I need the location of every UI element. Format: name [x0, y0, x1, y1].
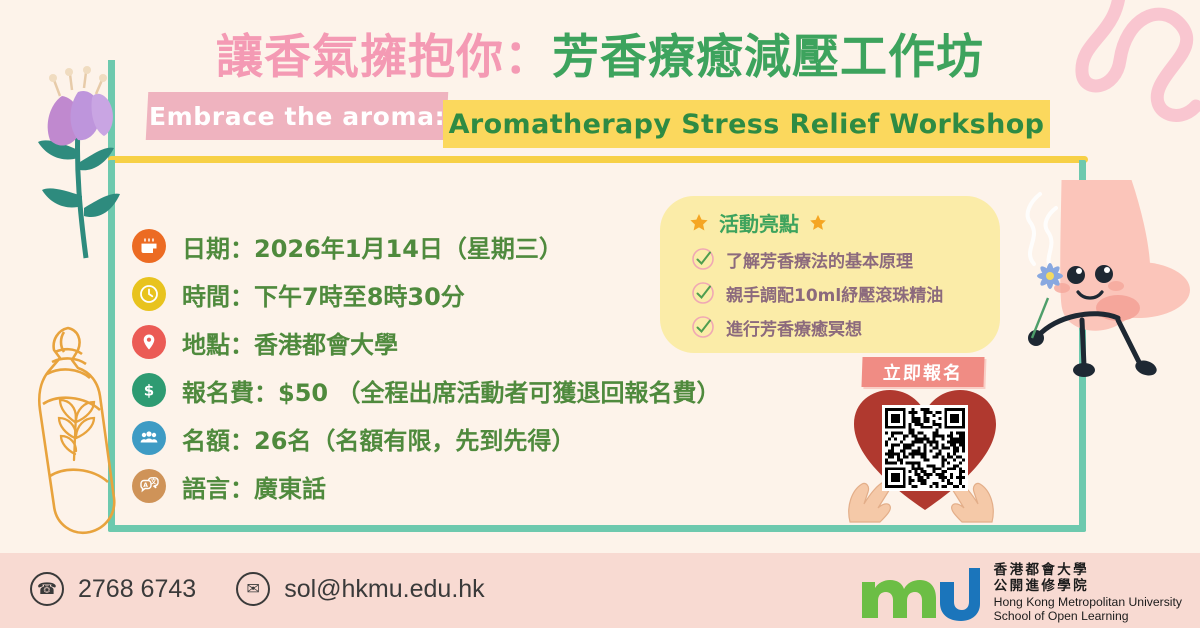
detail-row-quota: 名額：26名（名額有限，先到先得）: [132, 414, 712, 462]
poster-footer: ☎ 2768 6743 ✉ sol@hkmu.edu.hk 香港都會大學 公開進…: [0, 553, 1200, 628]
logo-english-line-1: Hong Kong Metropolitan University: [994, 595, 1182, 609]
highlight-text-2: 親手調配10ml紓壓滾珠精油: [726, 281, 943, 306]
event-details-list: 日期：2026年1月14日（星期三） 時間：下午7時至8時30分 地點：香港都會…: [132, 222, 712, 510]
register-button-label: 立即報名: [883, 359, 964, 385]
poster-title: 讓香氣擁抱你：芳香療癒減壓工作坊: [0, 18, 1200, 87]
dollar-icon: $: [132, 373, 166, 407]
contact-email[interactable]: ✉ sol@hkmu.edu.hk: [236, 572, 484, 606]
envelope-icon: ✉: [236, 572, 270, 606]
highlight-item-1: 了解芳香療法的基本原理: [688, 244, 1000, 274]
phone-icon: ☎: [30, 572, 64, 606]
poster-canvas: 讓香氣擁抱你：芳香療癒減壓工作坊 Embrace the aroma: Arom…: [0, 0, 1200, 628]
roller-bottle-illustration: [14, 310, 130, 542]
star-icon-right: [808, 213, 828, 233]
hkmu-logo-text: 香港都會大學 公開進修學院 Hong Kong Metropolitan Uni…: [994, 563, 1182, 624]
qr-code-image[interactable]: [882, 405, 968, 491]
people-icon: [132, 421, 166, 455]
contact-phone[interactable]: ☎ 2768 6743: [30, 572, 196, 606]
detail-text-language: 語言：廣東話: [182, 469, 326, 504]
clock-icon: [132, 277, 166, 311]
highlights-heading: 活動亮點: [719, 208, 799, 237]
hkmu-logo-block: 香港都會大學 公開進修學院 Hong Kong Metropolitan Uni…: [858, 563, 1182, 624]
logo-chinese-line-2: 公開進修學院: [994, 579, 1182, 595]
svg-text:$: $: [144, 382, 154, 400]
subtitle-banner-right: Aromatherapy Stress Relief Workshop: [443, 100, 1050, 148]
detail-row-time: 時間：下午7時至8時30分: [132, 270, 712, 318]
star-icon-left: [688, 212, 710, 234]
location-pin-icon: [132, 325, 166, 359]
svg-text:文: 文: [150, 478, 158, 486]
logo-english-line-2: School of Open Learning: [994, 609, 1182, 623]
detail-row-fee: $ 報名費：$50 （全程出席活動者可獲退回報名費）: [132, 366, 712, 414]
subtitle-english-right: Aromatherapy Stress Relief Workshop: [449, 109, 1045, 140]
logo-chinese-line-1: 香港都會大學: [994, 563, 1182, 579]
detail-text-quota: 名額：26名（名額有限，先到先得）: [182, 421, 575, 456]
detail-text-date: 日期：2026年1月14日（星期三）: [182, 229, 563, 264]
subtitle-banner-left: Embrace the aroma:: [146, 92, 449, 140]
highlight-item-3: 進行芳香療癒冥想: [688, 312, 1000, 342]
detail-row-location: 地點：香港都會大學: [132, 318, 712, 366]
qr-heart-block[interactable]: [852, 388, 998, 516]
email-address: sol@hkmu.edu.hk: [284, 575, 484, 604]
check-circle-icon: [688, 244, 718, 274]
highlights-heading-row: 活動亮點: [688, 208, 1000, 237]
detail-text-fee: 報名費：$50 （全程出席活動者可獲退回報名費）: [182, 373, 720, 408]
highlight-text-1: 了解芳香療法的基本原理: [726, 247, 913, 272]
check-circle-icon: [688, 278, 718, 308]
aroma-steam-icon: [1028, 194, 1056, 270]
register-now-button[interactable]: 立即報名: [861, 357, 984, 387]
subtitle-english-left: Embrace the aroma:: [149, 102, 445, 131]
highlights-card: 活動亮點 了解芳香療法的基本原理 親手調配10ml紓壓滾珠精油 進行芳香療癒冥想: [660, 196, 1000, 353]
detail-text-location: 地點：香港都會大學: [182, 325, 398, 360]
check-circle-icon: [688, 312, 718, 342]
calendar-icon: [132, 229, 166, 263]
nose-mascot-illustration: [1000, 180, 1200, 420]
title-chinese-green: 芳香療癒減壓工作坊: [552, 30, 984, 85]
lavender-flower-illustration: [6, 62, 142, 262]
detail-row-date: 日期：2026年1月14日（星期三）: [132, 222, 712, 270]
title-chinese-pink: 讓香氣擁抱你：: [216, 30, 552, 85]
contact-info: ☎ 2768 6743 ✉ sol@hkmu.edu.hk: [30, 572, 485, 606]
highlight-item-2: 親手調配10ml紓壓滾珠精油: [688, 278, 1000, 308]
svg-text:A: A: [143, 482, 148, 489]
language-icon: A文: [132, 469, 166, 503]
detail-text-time: 時間：下午7時至8時30分: [182, 277, 465, 312]
detail-row-language: A文 語言：廣東話: [132, 462, 712, 510]
hkmu-logo-icon: [858, 564, 980, 622]
phone-number: 2768 6743: [78, 575, 196, 604]
highlight-text-3: 進行芳香療癒冥想: [726, 315, 862, 340]
